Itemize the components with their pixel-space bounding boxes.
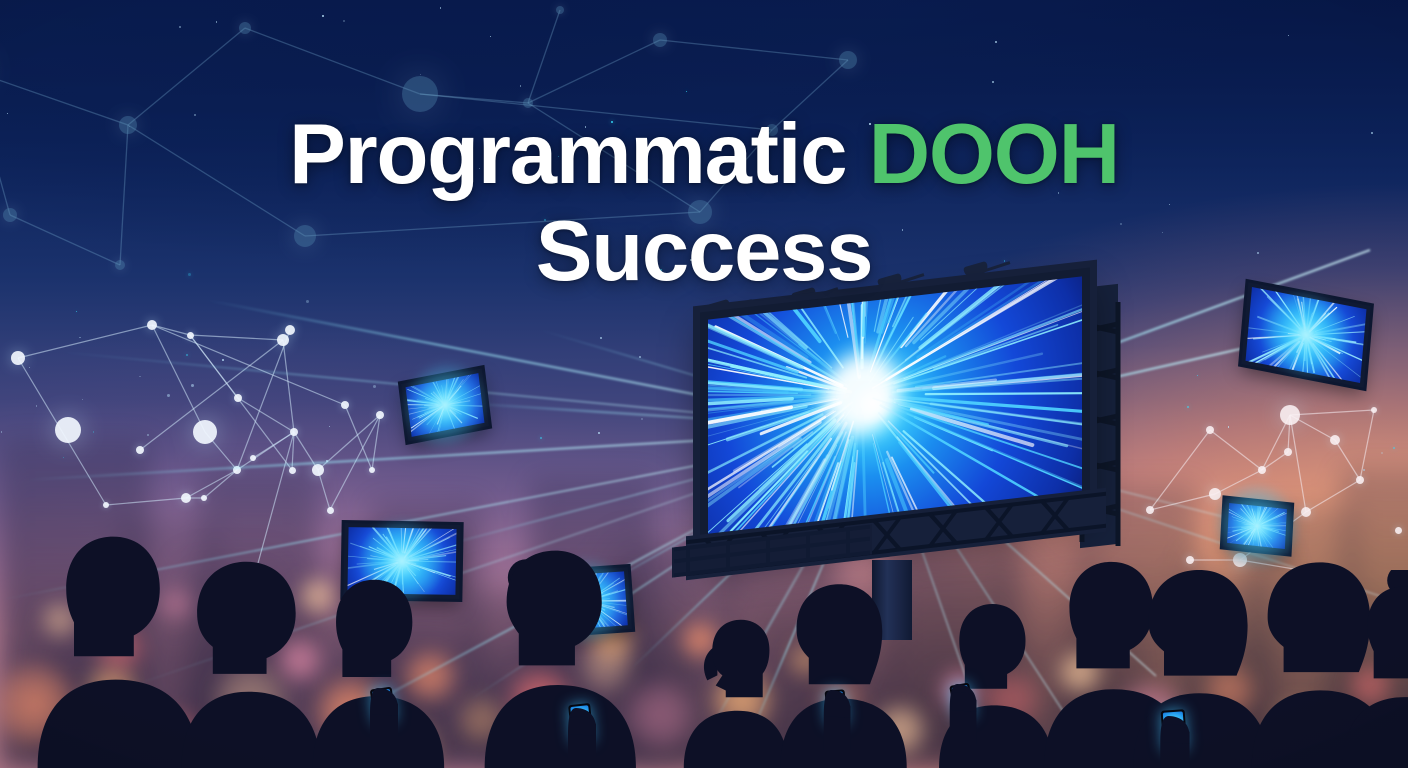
- screen-left-upper[interactable]: [401, 368, 489, 441]
- hand-silhouette: [364, 688, 408, 748]
- hand-shape: [944, 684, 986, 744]
- hand-shape: [562, 708, 606, 768]
- hand-silhouette: [562, 708, 606, 768]
- hand-silhouette: [944, 684, 986, 744]
- lamp-head: [877, 273, 903, 290]
- hand-silhouette: [1154, 716, 1200, 768]
- hand-shape: [1154, 716, 1200, 768]
- lamp-head: [963, 261, 989, 278]
- hand-silhouette: [818, 690, 860, 750]
- hand-shape: [818, 690, 860, 750]
- poster-canvas: Programmatic DOOH Success: [0, 0, 1408, 768]
- person-silhouette: [1330, 570, 1408, 768]
- crowd-silhouettes: [0, 558, 1408, 768]
- silhouette-shape: [1330, 570, 1408, 768]
- screen-right-lower[interactable]: [1223, 499, 1291, 554]
- hand-shape: [364, 688, 408, 748]
